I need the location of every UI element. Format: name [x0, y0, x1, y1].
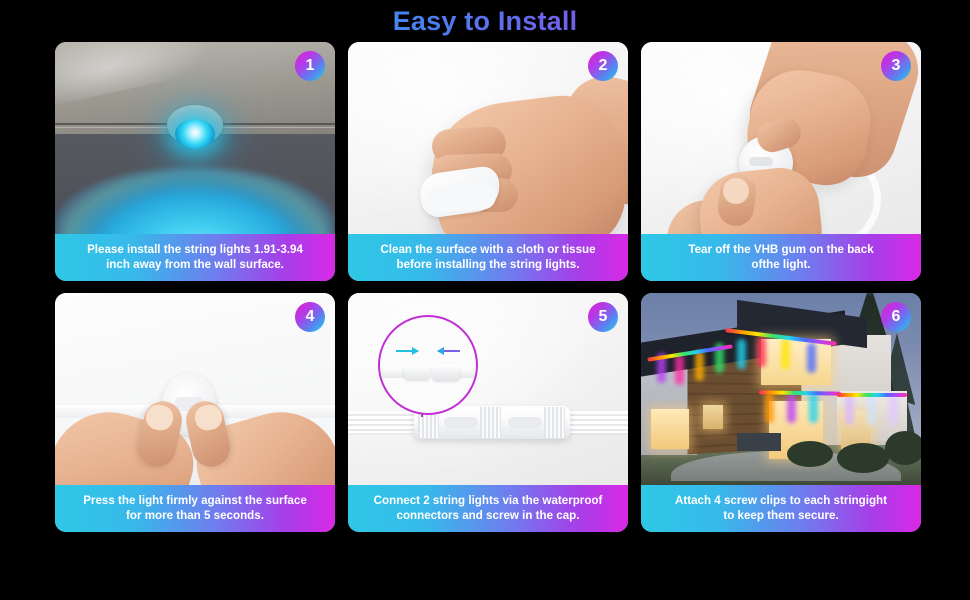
caption-line-2: before installing the string lights. — [380, 258, 595, 273]
connector-slot-right — [508, 417, 542, 428]
window-lower-left — [651, 409, 689, 449]
thumbnail — [723, 178, 749, 204]
shrub — [787, 441, 833, 467]
light-beam — [757, 337, 766, 367]
step-number-badge-3: 3 — [881, 51, 911, 81]
callout-plug-male — [404, 365, 430, 380]
step-number-badge-5: 5 — [588, 302, 618, 332]
tissue-fold — [425, 183, 497, 214]
step-5-photo — [348, 293, 628, 485]
eave-light-strip — [837, 393, 907, 397]
caption-line-2: to keep them secure. — [675, 509, 887, 524]
wall-sheen — [55, 42, 228, 108]
magnifier-callout — [378, 315, 478, 415]
window-upper-balcony — [761, 339, 831, 385]
step-card-3[interactable]: 3 Tear off the VHB gum on the back ofthe… — [641, 42, 921, 281]
step-2-photo — [348, 42, 628, 234]
led-emitter-icon — [175, 119, 215, 149]
caption-line-2: ofthe light. — [688, 258, 873, 273]
arrow-right-icon — [396, 350, 418, 352]
step-caption-1: Please install the string lights 1.91-3.… — [55, 234, 335, 281]
step-caption-2: Clean the surface with a cloth or tissue… — [348, 234, 628, 281]
step-number-badge-6: 6 — [881, 302, 911, 332]
page-title: Easy to Install — [0, 3, 970, 39]
light-beam — [781, 339, 790, 369]
light-beam — [807, 343, 816, 373]
step-3-photo — [641, 42, 921, 234]
light-beam — [787, 393, 796, 423]
connector-rib-mid — [480, 407, 501, 438]
step-caption-6: Attach 4 screw clips to each stringight … — [641, 485, 921, 532]
step-card-1[interactable]: 1 Please install the string lights 1.91-… — [55, 42, 335, 281]
light-beam — [845, 395, 854, 425]
step-6-photo — [641, 293, 921, 485]
light-beam — [737, 339, 746, 369]
caption-line-1: Clean the surface with a cloth or tissue — [380, 243, 595, 258]
planter-box — [737, 433, 781, 451]
light-beam — [809, 393, 818, 423]
light-beam — [675, 355, 684, 385]
step-number-badge-4: 4 — [295, 302, 325, 332]
light-beam — [695, 351, 704, 381]
window-small — [703, 405, 723, 429]
step-card-6[interactable]: 6 Attach 4 screw clips to each stringigh… — [641, 293, 921, 532]
shrub — [837, 443, 889, 473]
arrow-left-icon — [438, 350, 460, 352]
step-1-photo — [55, 42, 335, 234]
steps-grid: 1 Please install the string lights 1.91-… — [55, 42, 921, 570]
caption-line-1: Tear off the VHB gum on the back — [688, 243, 873, 258]
caption-line-2: for more than 5 seconds. — [83, 509, 307, 524]
step-caption-3: Tear off the VHB gum on the back ofthe l… — [641, 234, 921, 281]
step-card-4[interactable]: 4 Press the light firmly against the sur… — [55, 293, 335, 532]
step-4-photo — [55, 293, 335, 485]
caption-line-1: Press the light firmly against the surfa… — [83, 494, 307, 509]
install-guide-page: Easy to Install 1 Please install t — [0, 0, 970, 600]
lower-wall — [55, 134, 335, 234]
light-beam — [765, 393, 774, 423]
step-card-5[interactable]: 5 Connect 2 string lights via the waterp… — [348, 293, 628, 532]
step-card-2[interactable]: 2 Clean the surface with a cloth or tiss… — [348, 42, 628, 281]
step-number-badge-2: 2 — [588, 51, 618, 81]
light-glow-edge — [61, 170, 330, 234]
shrub — [885, 431, 921, 465]
connector-slot-left — [444, 417, 478, 428]
caption-line-1: Please install the string lights 1.91-3.… — [87, 243, 303, 258]
light-beam — [867, 395, 876, 425]
step-number-badge-1: 1 — [295, 51, 325, 81]
light-beam — [889, 395, 898, 425]
caption-line-1: Connect 2 string lights via the waterpro… — [374, 494, 603, 509]
caption-line-1: Attach 4 screw clips to each stringight — [675, 494, 887, 509]
callout-plug-female — [432, 364, 460, 381]
caption-line-2: connectors and screw in the cap. — [374, 509, 603, 524]
step-caption-4: Press the light firmly against the surfa… — [55, 485, 335, 532]
connector-rib-right — [544, 407, 565, 438]
caption-line-2: inch away from the wall surface. — [87, 258, 303, 273]
step-caption-5: Connect 2 string lights via the waterpro… — [348, 485, 628, 532]
